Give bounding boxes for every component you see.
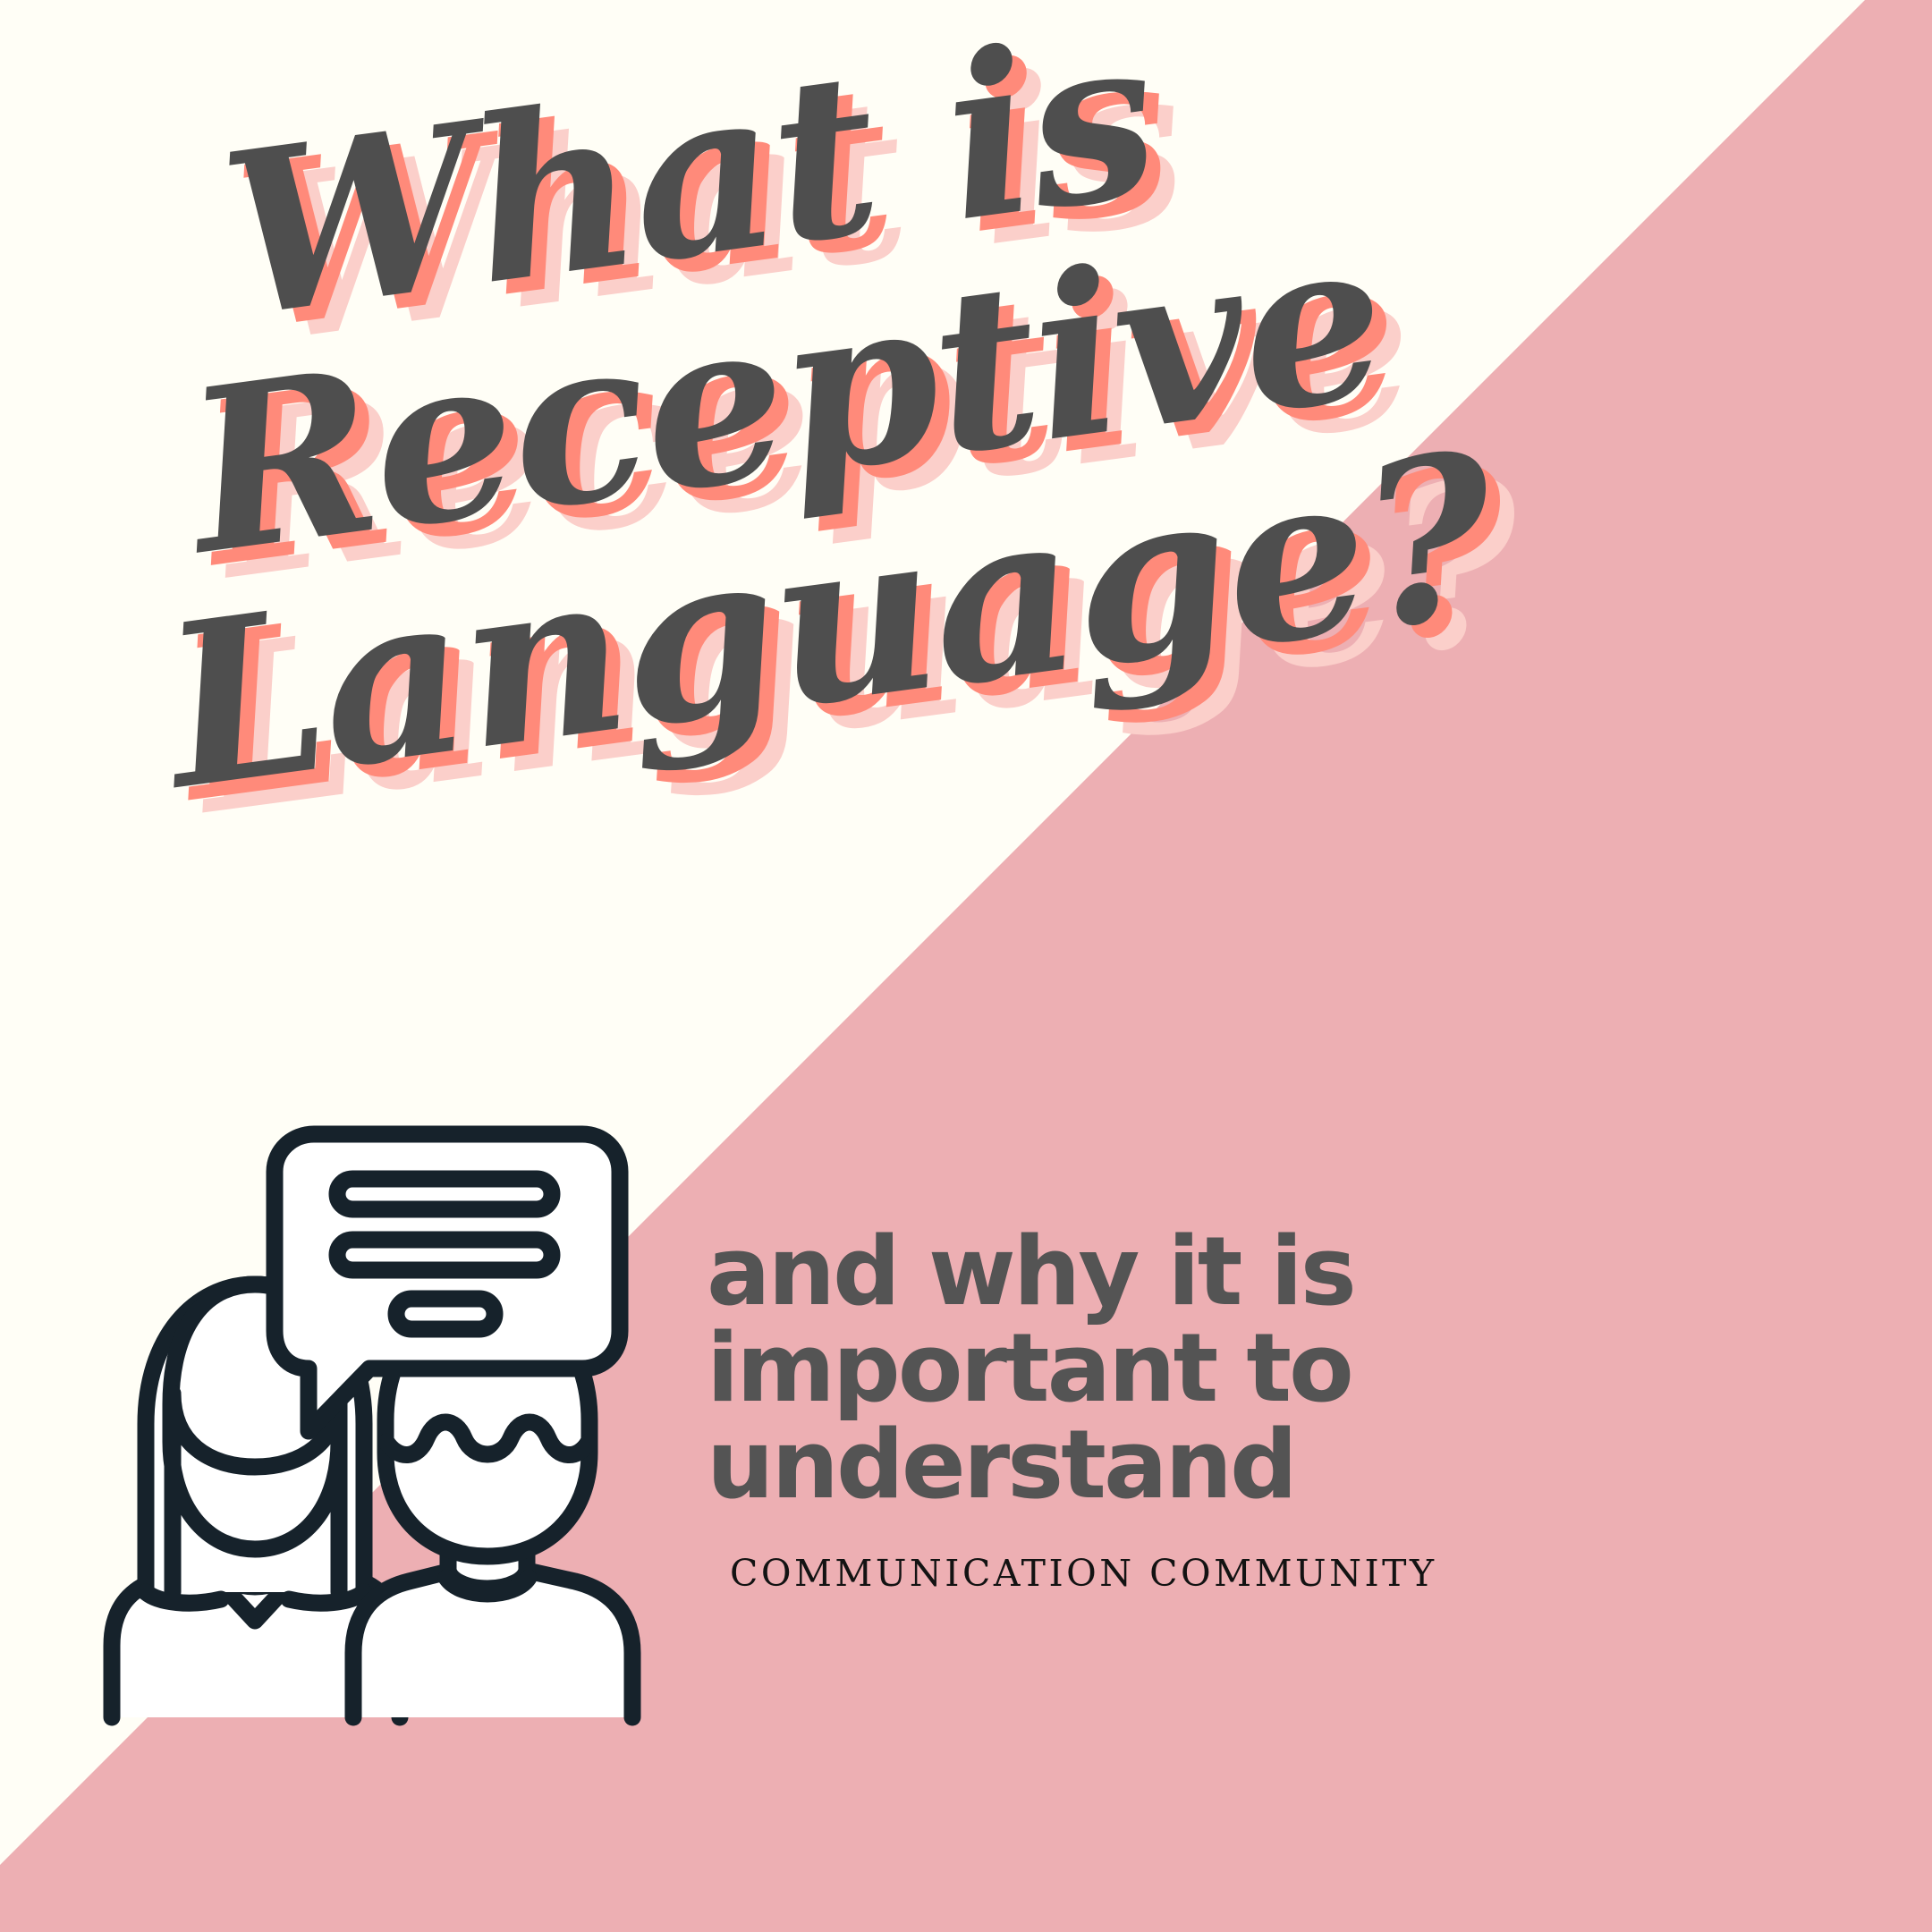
poster-canvas: What is Receptive Language? <box>0 0 1932 1932</box>
two-people-speech-bubble-illustration <box>85 1109 693 1735</box>
brand-label: COMMUNICATION COMMUNITY <box>730 1552 1437 1595</box>
page-title: What is Receptive Language? <box>94 0 1335 813</box>
illustration-svg <box>85 1109 693 1735</box>
subtitle-line-2: important to <box>707 1320 1780 1417</box>
subtitle-line-3: understand <box>707 1417 1780 1513</box>
subtitle-line-1: and why it is <box>707 1224 1780 1320</box>
subtitle: and why it is important to understand <box>707 1224 1780 1513</box>
